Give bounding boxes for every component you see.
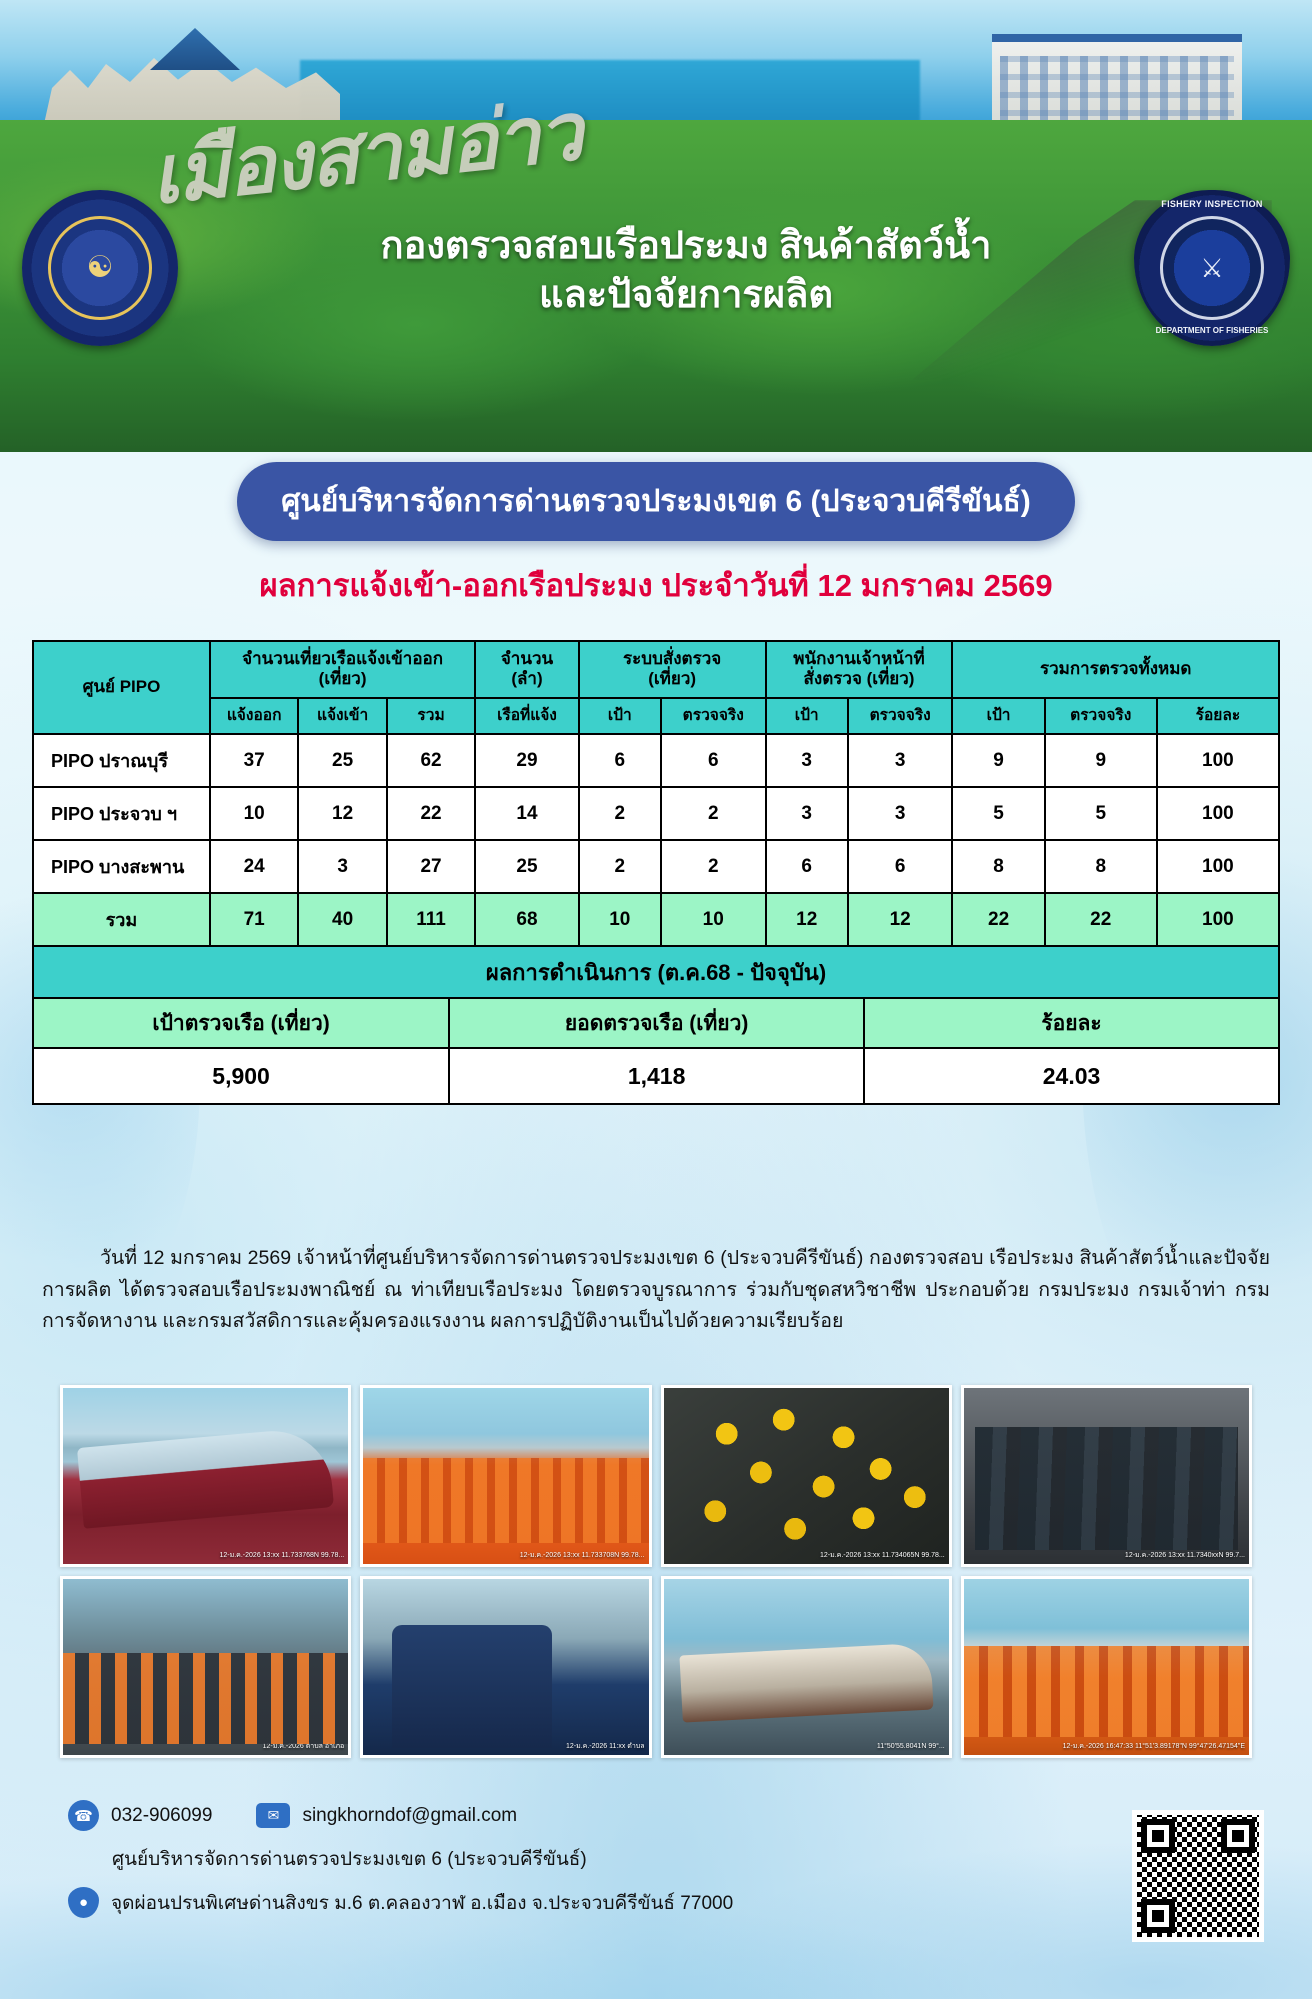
header-pipo-center: ศูนย์ PIPO — [33, 641, 210, 734]
summary-header-row: เป้าตรวจเรือ (เที่ยว) ยอดตรวจเรือ (เที่ย… — [33, 998, 1279, 1048]
photo-item: 11°50'55.8041N 99°... — [661, 1576, 952, 1758]
photo-item: 12-ม.ค.-2026 13:xx 11.7340xxN 99.7... — [961, 1385, 1252, 1567]
table-row: PIPO ประจวบ ฯ 10 12 22 14 2 2 3 3 5 5 10… — [33, 787, 1279, 840]
header-officer-order-line2: สั่งตรวจ (เที่ยว) — [769, 669, 950, 689]
photo-item: 12-ม.ค.-2026 13:xx 11.733708N 99.78... — [360, 1385, 651, 1567]
qr-finder-top-right — [1221, 1819, 1255, 1853]
subheader-percentage: ร้อยละ — [1157, 698, 1279, 735]
paragraph-line-1: วันที่ 12 มกราคม 2569 เจ้าหน้าที่ศูนย์บร… — [100, 1247, 984, 1269]
organization-title-line-2: และปัจจัยการผลิต — [120, 271, 1252, 320]
cell-value: 14 — [475, 787, 578, 840]
subheader-declared-out: แจ้งออก — [210, 698, 298, 735]
photo-timestamp: 12-ม.ค.-2026 ตำบล อำเภอ — [263, 1743, 345, 1752]
department-of-fisheries-seal: ☯ — [22, 190, 178, 346]
cell-value: 10 — [579, 893, 661, 946]
table-header-sub-row: แจ้งออก แจ้งเข้า รวม เรือที่แจ้ง เป้า ตร… — [33, 698, 1279, 735]
photo-item: 12-ม.ค.-2026 16:47:33 11°51'3.89178"N 99… — [961, 1576, 1252, 1758]
paragraph-line-4: ผลการปฏิบัติงานเป็นไปด้วยความเรียบร้อย — [491, 1310, 844, 1332]
cell-value: 12 — [766, 893, 848, 946]
cell-value: 100 — [1157, 893, 1279, 946]
cell-value: 100 — [1157, 734, 1279, 787]
cell-value: 22 — [952, 893, 1044, 946]
photo-timestamp: 12-ม.ค.-2026 13:xx 11.733768N 99.78... — [220, 1552, 345, 1561]
table-row: PIPO บางสะพาน 24 3 27 25 2 2 6 6 8 8 100 — [33, 840, 1279, 893]
photo-timestamp: 12-ม.ค.-2026 13:xx 11.733708N 99.78... — [520, 1552, 645, 1561]
footer-phone[interactable]: ☎ 032-906099 — [68, 1800, 212, 1831]
cell-value: 2 — [661, 840, 766, 893]
qr-finder-bottom-left — [1141, 1899, 1175, 1933]
report-paragraph: วันที่ 12 มกราคม 2569 เจ้าหน้าที่ศูนย์บร… — [42, 1243, 1270, 1338]
cumulative-summary-table: ผลการดำเนินการ (ต.ค.68 - ปัจจุบัน) เป้าต… — [32, 945, 1280, 1105]
cell-value: 12 — [848, 893, 953, 946]
cell-value: 5 — [952, 787, 1044, 840]
cell-value: 100 — [1157, 840, 1279, 893]
cell-value: 5 — [1045, 787, 1157, 840]
header-trip-count-line1: จำนวนเที่ยวเรือแจ้งเข้าออก — [213, 649, 472, 669]
table-row: PIPO ปราณบุรี 37 25 62 29 6 6 3 3 9 9 10… — [33, 734, 1279, 787]
cell-value: 25 — [475, 840, 578, 893]
summary-header-target: เป้าตรวจเรือ (เที่ยว) — [33, 998, 449, 1048]
cell-value: 12 — [298, 787, 386, 840]
footer-address-text: จุดผ่อนปรนพิเศษด่านสิงขร ม.6 ต.คลองวาฬ อ… — [111, 1888, 733, 1918]
footer-address: ● จุดผ่อนปรนพิเศษด่านสิงขร ม.6 ต.คลองวาฬ… — [68, 1887, 1068, 1918]
qr-code[interactable] — [1132, 1810, 1264, 1942]
subheader-total-actual: ตรวจจริง — [1045, 698, 1157, 735]
qr-finder-top-left — [1141, 1819, 1175, 1853]
cell-value: 2 — [579, 787, 661, 840]
cell-value: 8 — [952, 840, 1044, 893]
cell-value: 62 — [387, 734, 475, 787]
cell-value: 3 — [848, 787, 953, 840]
header-system-order-line2: (เที่ยว) — [582, 669, 763, 689]
cell-value: 6 — [661, 734, 766, 787]
organization-title: กองตรวจสอบเรือประมง สินค้าสัตว์น้ำ และปั… — [0, 222, 1312, 319]
location-pin-icon: ● — [68, 1887, 99, 1918]
cell-value: 6 — [848, 840, 953, 893]
cell-value: 40 — [298, 893, 386, 946]
cell-value: 24 — [210, 840, 298, 893]
header-system-order-line1: ระบบสั่งตรวจ — [582, 649, 763, 669]
header-vessel-count-line2: (ลำ) — [478, 669, 575, 689]
subheader-trip-total: รวม — [387, 698, 475, 735]
phone-icon: ☎ — [68, 1800, 99, 1831]
footer: ☎ 032-906099 ✉ singkhorndof@gmail.com ศู… — [68, 1800, 1068, 1931]
summary-header-actual: ยอดตรวจเรือ (เที่ยว) — [449, 998, 864, 1048]
photo-item: 12-ม.ค.-2026 11:xx ตำบล — [360, 1576, 651, 1758]
cell-value: 68 — [475, 893, 578, 946]
header-trip-count: จำนวนเที่ยวเรือแจ้งเข้าออก (เที่ยว) — [210, 641, 475, 698]
subheader-system-target: เป้า — [579, 698, 661, 735]
footer-email-text: singkhorndof@gmail.com — [302, 1805, 517, 1827]
table-header-group-row: ศูนย์ PIPO จำนวนเที่ยวเรือแจ้งเข้าออก (เ… — [33, 641, 1279, 698]
cell-value: 9 — [952, 734, 1044, 787]
header-total-inspection: รวมการตรวจทั้งหมด — [952, 641, 1279, 698]
cell-value: 3 — [848, 734, 953, 787]
cell-value: 71 — [210, 893, 298, 946]
seal-inner-emblem: ☯ — [48, 216, 152, 320]
header-trip-count-line2: (เที่ยว) — [213, 669, 472, 689]
header-vessel-count: จำนวน (ลำ) — [475, 641, 578, 698]
summary-header-percentage: ร้อยละ — [864, 998, 1279, 1048]
table-row-total: รวม 71 40 111 68 10 10 12 12 22 22 100 — [33, 893, 1279, 946]
cell-value: 27 — [387, 840, 475, 893]
photo-grid: 12-ม.ค.-2026 13:xx 11.733768N 99.78... 1… — [60, 1385, 1252, 1758]
summary-title: ผลการดำเนินการ (ต.ค.68 - ปัจจุบัน) — [33, 946, 1279, 998]
photo-item: 12-ม.ค.-2026 ตำบล อำเภอ — [60, 1576, 351, 1758]
cell-value: 8 — [1045, 840, 1157, 893]
footer-contact-row: ☎ 032-906099 ✉ singkhorndof@gmail.com — [68, 1800, 1068, 1844]
cell-value: 22 — [1045, 893, 1157, 946]
summary-value-target: 5,900 — [33, 1048, 449, 1104]
photo-timestamp: 11°50'55.8041N 99°... — [877, 1743, 945, 1752]
summary-value-percentage: 24.03 — [864, 1048, 1279, 1104]
cell-value: 100 — [1157, 787, 1279, 840]
subheader-declared-in: แจ้งเข้า — [298, 698, 386, 735]
center-banner-wrap: ศูนย์บริหารจัดการด่านตรวจประมงเขต 6 (ประ… — [0, 462, 1312, 541]
badge-bottom-text: DEPARTMENT OF FISHERIES — [1134, 326, 1290, 335]
cell-value: 10 — [661, 893, 766, 946]
footer-phone-text: 032-906099 — [111, 1805, 212, 1827]
cell-value: 9 — [1045, 734, 1157, 787]
footer-center-name: ศูนย์บริหารจัดการด่านตรวจประมงเขต 6 (ประ… — [112, 1844, 1068, 1874]
photo-item: 12-ม.ค.-2026 13:xx 11.734065N 99.78... — [661, 1385, 952, 1567]
cell-value: 111 — [387, 893, 475, 946]
envelope-icon: ✉ — [256, 1803, 290, 1828]
cell-value: 2 — [579, 840, 661, 893]
photo-timestamp: 12-ม.ค.-2026 11:xx ตำบล — [566, 1743, 645, 1752]
subheader-officer-actual: ตรวจจริง — [848, 698, 953, 735]
subheader-officer-target: เป้า — [766, 698, 848, 735]
row-label: PIPO ประจวบ ฯ — [33, 787, 210, 840]
header-officer-order-line1: พนักงานเจ้าหน้าที่ — [769, 649, 950, 669]
row-label-total: รวม — [33, 893, 210, 946]
cell-value: 37 — [210, 734, 298, 787]
fishing-vessel-report-table: ศูนย์ PIPO จำนวนเที่ยวเรือแจ้งเข้าออก (เ… — [32, 640, 1280, 947]
table-body: PIPO ปราณบุรี 37 25 62 29 6 6 3 3 9 9 10… — [33, 734, 1279, 946]
header-vessel-count-line1: จำนวน — [478, 649, 575, 669]
center-name-banner: ศูนย์บริหารจัดการด่านตรวจประมงเขต 6 (ประ… — [237, 462, 1075, 541]
header-officer-order: พนักงานเจ้าหน้าที่ สั่งตรวจ (เที่ยว) — [766, 641, 953, 698]
page-title: ผลการแจ้งเข้า-ออกเรือประมง ประจำวันที่ 1… — [0, 560, 1312, 610]
photo-item: 12-ม.ค.-2026 13:xx 11.733768N 99.78... — [60, 1385, 351, 1567]
cell-value: 3 — [766, 787, 848, 840]
header-system-order: ระบบสั่งตรวจ (เที่ยว) — [579, 641, 766, 698]
hero-banner: เมืองสามอ่าว กองตรวจสอบเรือประมง สินค้าส… — [0, 0, 1312, 452]
cell-value: 3 — [298, 840, 386, 893]
cell-value: 6 — [766, 840, 848, 893]
cell-value: 29 — [475, 734, 578, 787]
organization-title-line-1: กองตรวจสอบเรือประมง สินค้าสัตว์น้ำ — [120, 222, 1252, 271]
cell-value: 2 — [661, 787, 766, 840]
summary-value-row: 5,900 1,418 24.03 — [33, 1048, 1279, 1104]
wing-emblem-icon: ⚔ — [1200, 255, 1223, 281]
cell-value: 6 — [579, 734, 661, 787]
cell-value: 10 — [210, 787, 298, 840]
summary-value-actual: 1,418 — [449, 1048, 864, 1104]
subheader-declared-vessels: เรือที่แจ้ง — [475, 698, 578, 735]
cell-value: 3 — [766, 734, 848, 787]
report-table-wrap: ศูนย์ PIPO จำนวนเที่ยวเรือแจ้งเข้าออก (เ… — [32, 640, 1280, 1105]
subheader-total-target: เป้า — [952, 698, 1044, 735]
table-header: ศูนย์ PIPO จำนวนเที่ยวเรือแจ้งเข้าออก (เ… — [33, 641, 1279, 734]
badge-inner-emblem: ⚔ — [1160, 216, 1264, 320]
photo-timestamp: 12-ม.ค.-2026 13:xx 11.7340xxN 99.7... — [1125, 1552, 1245, 1561]
row-label: PIPO บางสะพาน — [33, 840, 210, 893]
cell-value: 25 — [298, 734, 386, 787]
row-label: PIPO ปราณบุรี — [33, 734, 210, 787]
subheader-system-actual: ตรวจจริง — [661, 698, 766, 735]
badge-top-text: FISHERY INSPECTION — [1134, 199, 1290, 209]
cell-value: 22 — [387, 787, 475, 840]
garuda-emblem-icon: ☯ — [87, 253, 114, 283]
photo-timestamp: 12-ม.ค.-2026 13:xx 11.734065N 99.78... — [820, 1552, 945, 1561]
photo-timestamp: 12-ม.ค.-2026 16:47:33 11°51'3.89178"N 99… — [1063, 1743, 1245, 1752]
summary-title-row: ผลการดำเนินการ (ต.ค.68 - ปัจจุบัน) — [33, 946, 1279, 998]
footer-email[interactable]: ✉ singkhorndof@gmail.com — [256, 1803, 517, 1828]
